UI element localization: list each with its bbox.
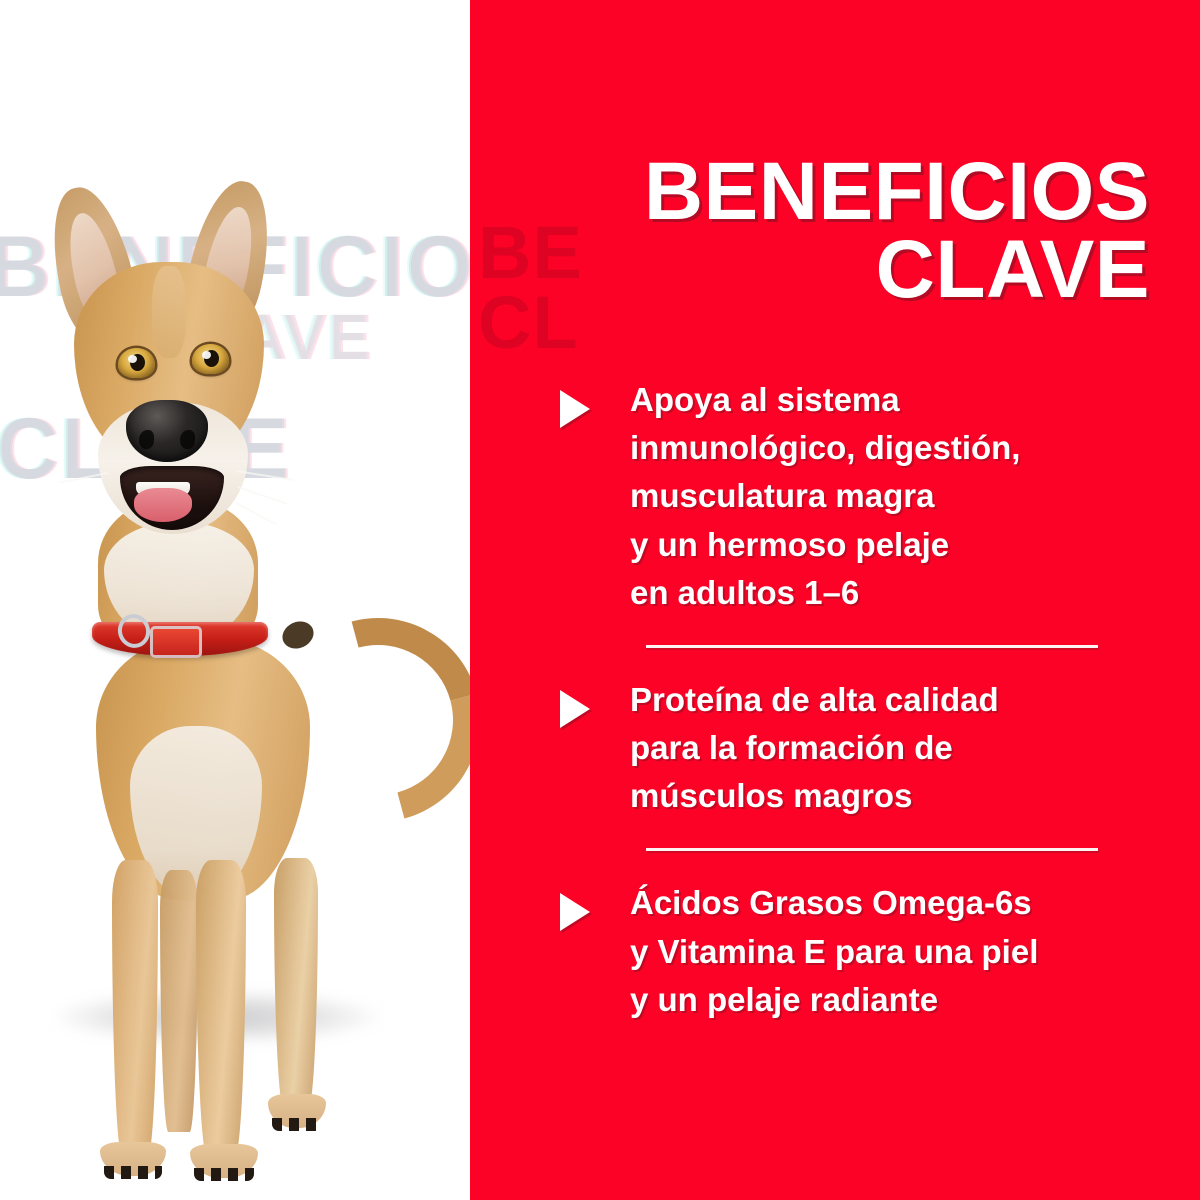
benefit-item-1: Apoya al sistema inmunológico, digestión…	[560, 376, 1160, 617]
dog-whisker	[238, 486, 288, 505]
dog-paw-front-left	[100, 1142, 166, 1176]
benefit-item-3: Ácidos Grasos Omega-6s y Vitamina E para…	[560, 879, 1160, 1024]
play-triangle-icon	[560, 893, 590, 931]
benefit-item-2: Proteína de alta calidad para la formaci…	[560, 676, 1160, 821]
dog-back-right-leg	[274, 858, 318, 1108]
dog-left-eye	[118, 348, 155, 378]
dog-front-left-leg	[112, 860, 158, 1156]
dog-photo	[0, 170, 470, 1050]
collar-buckle-icon	[150, 626, 202, 658]
dog-back-left-leg	[160, 870, 198, 1132]
play-triangle-icon	[560, 390, 590, 428]
dog-photo-panel: BENEFICIOS CLAVE CLAVE	[0, 0, 470, 1200]
dog-front-right-leg	[196, 860, 246, 1156]
dog-nails	[104, 1166, 162, 1179]
dog-tongue	[134, 488, 192, 522]
benefit-text-2: Proteína de alta calidad para la formaci…	[630, 676, 999, 821]
benefit-text-1: Apoya al sistema inmunológico, digestión…	[630, 376, 1020, 617]
headline-line-2: CLAVE	[510, 231, 1150, 309]
dog-right-eye	[192, 344, 229, 374]
promotional-card: BENEFICIOS CLAVE CLAVE	[0, 0, 1200, 1200]
benefits-red-panel: BE CL BENEFICIOS CLAVE Apoya al sistema …	[470, 0, 1200, 1200]
page-title: BENEFICIOS CLAVE	[510, 153, 1150, 309]
dog-left-eye-glint	[128, 355, 137, 363]
dog-nails	[272, 1118, 322, 1131]
dog-right-eye-glint	[202, 351, 211, 359]
benefit-text-3: Ácidos Grasos Omega-6s y Vitamina E para…	[630, 879, 1038, 1024]
play-triangle-icon	[560, 690, 590, 728]
dog-nostril-left	[139, 430, 154, 449]
benefit-divider-1	[646, 645, 1098, 648]
dog-nails	[194, 1168, 254, 1181]
dog-paw-front-right	[190, 1144, 258, 1178]
benefit-divider-2	[646, 848, 1098, 851]
dog-nostril-right	[180, 430, 195, 449]
dog-forehead-blaze	[152, 266, 186, 358]
dog-paw-back-right	[268, 1094, 326, 1128]
benefits-list: Apoya al sistema inmunológico, digestión…	[560, 376, 1160, 1024]
